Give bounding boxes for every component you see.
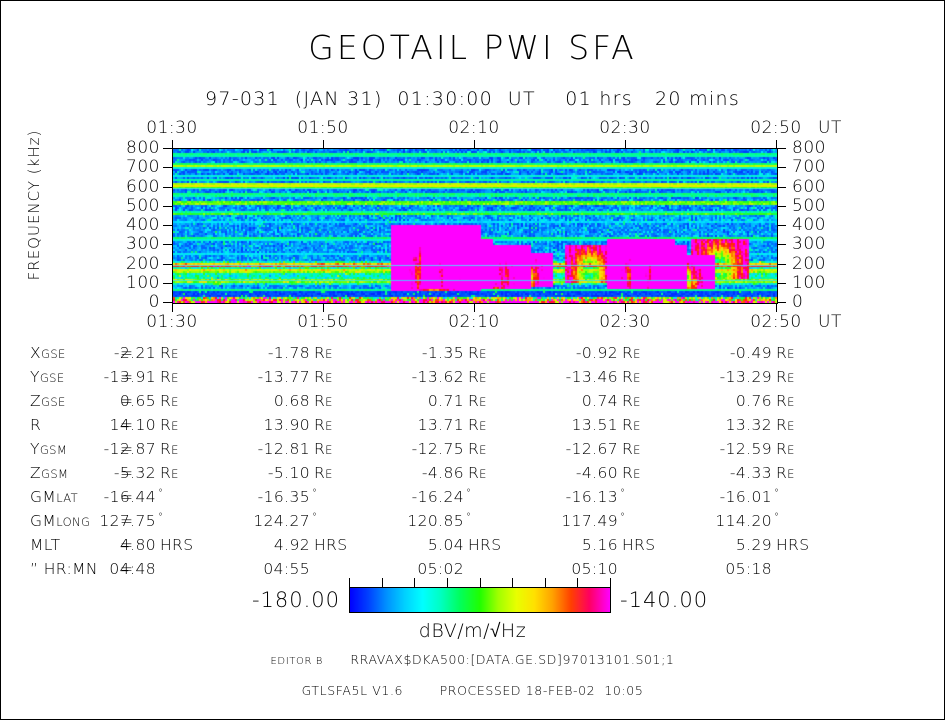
frequency-tick-label: 100: [108, 273, 160, 293]
colorbar-tick: [577, 578, 578, 587]
table-cell-unit: RE: [314, 344, 333, 362]
frequency-tick-mark: [163, 187, 172, 188]
frequency-tick-mark: [777, 244, 786, 245]
table-cell-unit: RE: [468, 392, 487, 410]
table-cell-value: 5.04: [374, 536, 464, 554]
table-cell-value: -1.78: [220, 344, 310, 362]
table-cell-value: -12.67: [528, 440, 618, 458]
frequency-tick-mark: [163, 206, 172, 207]
table-cell-value: -13.29: [682, 368, 772, 386]
table-cell-value: -5.10: [220, 464, 310, 482]
time-tick-mark: [323, 304, 324, 312]
spectrogram-plot[interactable]: [172, 148, 778, 304]
y-axis-labels-right: 8007006005004003002001000: [792, 148, 852, 302]
table-row: ZGSE=0.65RE0.68RE0.71RE0.74RE0.76RE: [30, 392, 915, 416]
table-cell-value: 13.71: [374, 416, 464, 434]
table-cell-value: 0.74: [528, 392, 618, 410]
table-cell-unit: RE: [160, 368, 179, 386]
table-cell-value: 14.10: [66, 416, 156, 434]
time-tick-label: 02:30: [599, 118, 651, 138]
time-tick-mark: [323, 140, 324, 148]
time-tick-label: 02:50: [750, 118, 802, 138]
frequency-tick-mark: [163, 225, 172, 226]
frequency-tick-label: 500: [108, 196, 160, 216]
frequency-tick-label: 800: [108, 138, 160, 158]
table-row: GMLAT=-16.44°-16.35°-16.24°-16.13°-16.01…: [30, 488, 915, 512]
frequency-tick-mark: [163, 283, 172, 284]
table-cell-unit: °: [158, 512, 163, 530]
time-tick-label: 01:50: [297, 312, 349, 332]
colorbar-gradient: [349, 587, 611, 613]
table-cell-unit: RE: [314, 440, 333, 458]
table-cell-value: -16.13: [528, 488, 618, 506]
time-axis-top: 01:3001:5002:1002:3002:50UT: [0, 118, 945, 138]
table-cell-unit: RE: [468, 464, 487, 482]
colorbar-tick: [382, 578, 383, 587]
table-cell-unit: RE: [160, 392, 179, 410]
table-cell-unit: °: [620, 488, 625, 506]
table-cell-value: -12.87: [66, 440, 156, 458]
table-cell-unit: °: [774, 512, 779, 530]
colorbar-group: -180.00 -140.00 dBV/m/√Hz: [0, 578, 945, 624]
table-cell-value: 120.85: [374, 512, 464, 530]
table-cell-unit: HRS: [468, 536, 501, 554]
time-tick-mark: [474, 140, 475, 148]
table-cell-value: 04:55: [220, 560, 310, 578]
footer-line-1: EDITOR B RRAVAX$DKA500:[DATA.GE.SD]97013…: [0, 652, 945, 667]
time-tick-mark: [474, 304, 475, 312]
frequency-tick-mark: [163, 148, 172, 149]
frequency-tick-label: 0: [792, 292, 852, 312]
table-row: ZGSM=-5.32RE-5.10RE-4.86RE-4.60RE-4.33RE: [30, 464, 915, 488]
table-cell-value: 13.51: [528, 416, 618, 434]
table-cell-unit: RE: [776, 464, 795, 482]
table-cell-unit: RE: [160, 440, 179, 458]
frequency-tick-label: 500: [792, 196, 852, 216]
frequency-tick-mark: [777, 283, 786, 284]
table-cell-unit: HRS: [160, 536, 193, 554]
table-row: YGSM=-12.87RE-12.81RE-12.75RE-12.67RE-12…: [30, 440, 915, 464]
frequency-tick-mark: [777, 148, 786, 149]
colorbar-unit-label: dBV/m/√Hz: [0, 620, 945, 643]
colorbar-tick: [414, 578, 415, 587]
table-cell-value: 5.16: [528, 536, 618, 554]
table-cell-unit: RE: [160, 416, 179, 434]
frequency-tick-mark: [163, 167, 172, 168]
table-cell-value: -16.35: [220, 488, 310, 506]
time-tick-label: 02:30: [599, 312, 651, 332]
table-cell-unit: RE: [776, 440, 795, 458]
table-cell-unit: HRS: [776, 536, 809, 554]
colorbar-tick: [545, 578, 546, 587]
table-cell-value: 05:10: [528, 560, 618, 578]
frequency-tick-mark: [163, 264, 172, 265]
table-cell-value: 117.49: [528, 512, 618, 530]
table-cell-value: 13.32: [682, 416, 772, 434]
frequency-tick-label: 0: [108, 292, 160, 312]
frequency-tick-mark: [777, 264, 786, 265]
colorbar-ticks: [349, 578, 611, 587]
colorbar-min-label: -180.00: [150, 588, 340, 612]
table-cell-value: -12.81: [220, 440, 310, 458]
table-cell-unit: RE: [314, 368, 333, 386]
frequency-tick-label: 800: [792, 138, 852, 158]
table-row: YGSE=-13.91RE-13.77RE-13.62RE-13.46RE-13…: [30, 368, 915, 392]
table-cell-value: -16.24: [374, 488, 464, 506]
table-cell-value: 4.92: [220, 536, 310, 554]
frequency-tick-mark: [777, 225, 786, 226]
table-cell-value: 0.68: [220, 392, 310, 410]
table-cell-value: -16.44: [66, 488, 156, 506]
table-cell-value: -2.21: [66, 344, 156, 362]
table-cell-value: 5.29: [682, 536, 772, 554]
y-axis-title: FREQUENCY (kHz): [25, 125, 43, 285]
time-tick-mark: [625, 304, 626, 312]
frequency-tick-label: 300: [792, 234, 852, 254]
frequency-tick-mark: [777, 167, 786, 168]
colorbar-max-label: -140.00: [620, 588, 820, 612]
table-cell-unit: RE: [314, 416, 333, 434]
table-cell-value: -4.33: [682, 464, 772, 482]
table-cell-value: -12.75: [374, 440, 464, 458]
frequency-tick-label: 600: [108, 177, 160, 197]
time-tick-mark: [625, 140, 626, 148]
time-tick-mark: [776, 140, 777, 148]
table-cell-value: -13.46: [528, 368, 618, 386]
frequency-tick-mark: [163, 244, 172, 245]
table-cell-value: -4.60: [528, 464, 618, 482]
time-tick-mark: [172, 304, 173, 312]
frequency-tick-label: 100: [792, 273, 852, 293]
time-tick-mark: [172, 140, 173, 148]
frequency-tick-label: 400: [108, 215, 160, 235]
table-row: GMLONG=127.75°124.27°120.85°117.49°114.2…: [30, 512, 915, 536]
time-tick-mark: [776, 304, 777, 312]
frequency-tick-mark: [777, 206, 786, 207]
time-tick-label: 02:50: [750, 312, 802, 332]
time-axis-bottom: 01:3001:5002:1002:3002:50UT: [0, 312, 945, 332]
table-cell-unit: °: [312, 488, 317, 506]
table-cell-value: 0.76: [682, 392, 772, 410]
frequency-tick-mark: [777, 187, 786, 188]
table-cell-unit: °: [466, 512, 471, 530]
table-cell-unit: RE: [468, 368, 487, 386]
footer-line-2: GTLSFA5L V1.6 PROCESSED 18-FEB-02 10:05: [0, 683, 945, 698]
frequency-tick-label: 600: [792, 177, 852, 197]
table-cell-unit: RE: [622, 464, 641, 482]
table-cell-value: 13.90: [220, 416, 310, 434]
table-cell-value: 127.75: [66, 512, 156, 530]
table-cell-value: 124.27: [220, 512, 310, 530]
table-cell-unit: HRS: [622, 536, 655, 554]
table-cell-value: 0.65: [66, 392, 156, 410]
table-cell-unit: RE: [776, 344, 795, 362]
table-cell-unit: RE: [622, 440, 641, 458]
table-cell-unit: HRS: [314, 536, 347, 554]
table-cell-unit: RE: [776, 392, 795, 410]
table-cell-unit: RE: [622, 416, 641, 434]
colorbar-tick: [349, 578, 350, 587]
time-tick-label: 02:10: [448, 118, 500, 138]
table-cell-value: -12.59: [682, 440, 772, 458]
y-axis-labels-left: 8007006005004003002001000: [108, 148, 160, 302]
table-cell-unit: RE: [468, 440, 487, 458]
table-cell-value: 114.20: [682, 512, 772, 530]
table-cell-unit: RE: [468, 416, 487, 434]
table-row: R=14.10RE13.90RE13.71RE13.51RE13.32RE: [30, 416, 915, 440]
spectrogram-canvas: [173, 149, 777, 303]
table-cell-value: -16.01: [682, 488, 772, 506]
table-cell-value: -5.32: [66, 464, 156, 482]
table-row: MLT=4.80HRS4.92HRS5.04HRS5.16HRS5.29HRS: [30, 536, 915, 560]
ephemeris-table: XGSE=-2.21RE-1.78RE-1.35RE-0.92RE-0.49RE…: [30, 344, 915, 584]
time-axis-unit: UT: [818, 118, 842, 138]
frequency-tick-label: 700: [792, 157, 852, 177]
table-cell-value: 04:48: [66, 560, 156, 578]
table-cell-unit: RE: [160, 344, 179, 362]
time-tick-label: 01:30: [146, 312, 198, 332]
time-tick-label: 01:50: [297, 118, 349, 138]
table-cell-value: 0.71: [374, 392, 464, 410]
table-cell-unit: RE: [622, 392, 641, 410]
frequency-tick-mark: [163, 302, 172, 303]
time-axis-unit: UT: [818, 312, 842, 332]
table-cell-unit: °: [466, 488, 471, 506]
table-cell-value: 05:18: [682, 560, 772, 578]
frequency-tick-label: 300: [108, 234, 160, 254]
table-cell-unit: RE: [160, 464, 179, 482]
table-cell-value: -13.91: [66, 368, 156, 386]
table-cell-unit: RE: [314, 392, 333, 410]
table-cell-unit: RE: [468, 344, 487, 362]
frequency-tick-label: 700: [108, 157, 160, 177]
frequency-tick-mark: [777, 302, 786, 303]
table-cell-value: -13.62: [374, 368, 464, 386]
table-cell-unit: °: [158, 488, 163, 506]
colorbar-tick: [512, 578, 513, 587]
table-cell-unit: RE: [776, 416, 795, 434]
table-cell-unit: RE: [776, 368, 795, 386]
table-cell-value: -0.92: [528, 344, 618, 362]
table-cell-unit: °: [620, 512, 625, 530]
table-cell-unit: RE: [314, 464, 333, 482]
time-tick-label: 01:30: [146, 118, 198, 138]
table-cell-value: -4.86: [374, 464, 464, 482]
table-cell-value: 05:02: [374, 560, 464, 578]
table-cell-unit: RE: [622, 344, 641, 362]
table-cell-unit: °: [774, 488, 779, 506]
table-row: XGSE=-2.21RE-1.78RE-1.35RE-0.92RE-0.49RE: [30, 344, 915, 368]
colorbar-tick: [447, 578, 448, 587]
colorbar-tick: [610, 578, 611, 587]
colorbar-tick: [480, 578, 481, 587]
frequency-tick-label: 400: [792, 215, 852, 235]
table-cell-unit: RE: [622, 368, 641, 386]
page-title: GEOTAIL PWI SFA: [0, 28, 945, 67]
table-cell-unit: °: [312, 512, 317, 530]
table-cell-value: -1.35: [374, 344, 464, 362]
table-cell-value: -0.49: [682, 344, 772, 362]
table-cell-value: -13.77: [220, 368, 310, 386]
time-tick-label: 02:10: [448, 312, 500, 332]
plot-subtitle: 97-031 (JAN 31) 01:30:00 UT 01 hrs 20 mi…: [0, 88, 945, 110]
table-cell-value: 4.80: [66, 536, 156, 554]
frequency-tick-label: 200: [108, 254, 160, 274]
frequency-tick-label: 200: [792, 254, 852, 274]
